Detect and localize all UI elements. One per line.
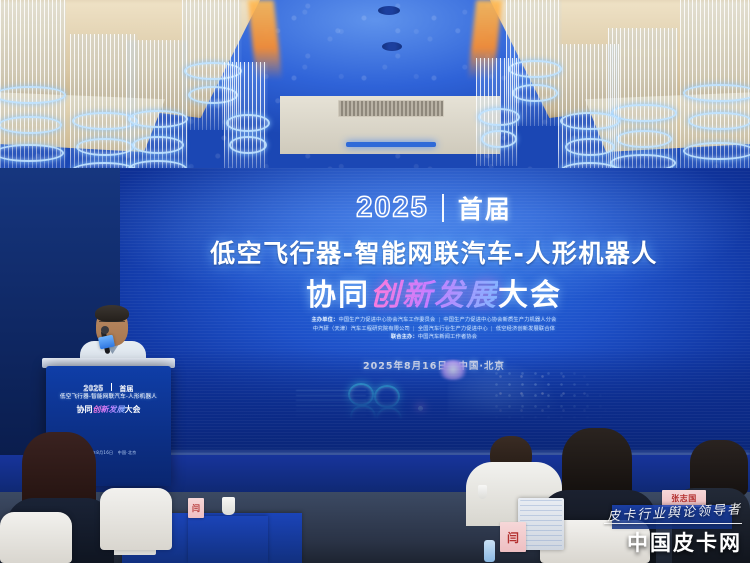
soffit-panel-left-lower [0,92,165,152]
podium-headline-prefix: 协同 [77,405,93,414]
podium-logo-divider [111,383,112,391]
conference-photo: 2025 首届 低空飞行器-智能网联汽车-人形机器人 协同创新发展大会 主办单位… [0,0,750,563]
podium-date-location: 2025年8月16日 中国·北京 [46,450,171,456]
water-bottle [484,540,495,562]
name-card-text: 闫 [192,503,200,514]
screen-scanlines [118,168,750,468]
table [188,516,268,563]
ceiling-vent [338,100,444,117]
led-stage-screen: 2025 首届 低空飞行器-智能网联汽车-人形机器人 协同创新发展大会 主办单位… [118,168,750,468]
ceiling-light [382,42,402,51]
ceiling-light [378,6,400,15]
chair [100,488,172,550]
paper-cup [222,497,235,515]
ceiling [0,0,750,185]
microphone-head [101,326,109,334]
podium-headline-suffix: 大会 [125,405,141,414]
paper-cup [478,485,487,499]
podium-headline-line2: 协同创新发展大会 [46,404,171,415]
podium-headline-line1: 低空飞行器-智能网联汽车-人形机器人 [46,392,171,400]
laptop-screen [520,500,562,548]
watermark-script-text: 皮卡行业舆论领导者 [604,498,743,524]
name-card: 闫 [188,498,204,518]
podium: 2025 首届 低空飞行器-智能网联汽车-人形机器人 协同创新发展大会 2025… [46,366,171,486]
watermark-site-name: 中国皮卡网 [604,527,742,557]
podium-headline-highlight: 创新发展 [93,405,125,414]
ceiling-strip-light [346,142,436,147]
chair [0,512,72,563]
name-card-text: 闫 [507,529,519,546]
watermark: 皮卡行业舆论领导者 中国皮卡网 [604,502,742,558]
soffit-panel-right-lower [585,92,750,152]
name-card: 闫 [500,522,526,552]
